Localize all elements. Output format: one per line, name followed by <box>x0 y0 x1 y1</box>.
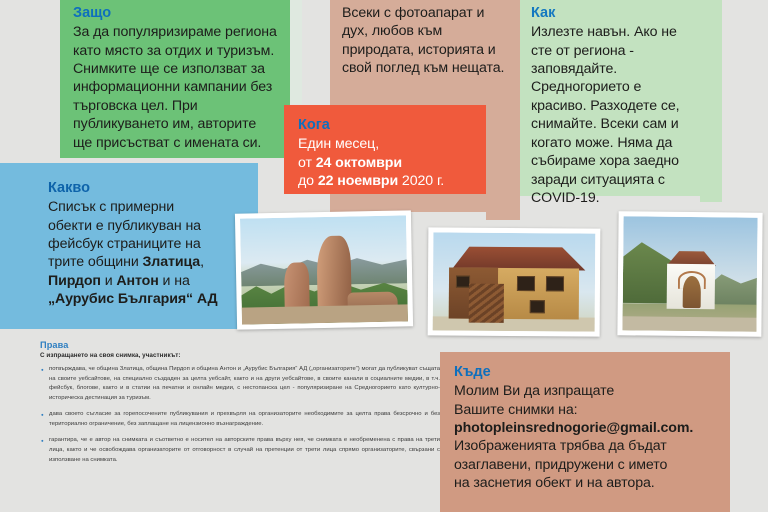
where-line2: Вашите снимки на: <box>454 401 720 419</box>
panel-where-body: Молим Ви да изпращате Вашите снимки на: … <box>454 382 720 493</box>
panel-what: Какво Списък с примерни обекти е публику… <box>0 163 258 329</box>
company-aurubis: „Аурубис България“ АД <box>48 291 218 307</box>
rights-bullet: гарантира, че е автор на снимката и съот… <box>40 436 440 465</box>
panel-what-heading: Какво <box>48 179 248 197</box>
when-line3-prefix: до <box>298 173 318 189</box>
white-chapel-image <box>622 216 757 331</box>
panel-why-body: За да популяризираме региона като място … <box>73 23 278 152</box>
municipality-anton: Антон <box>116 273 158 289</box>
panel-why: Защо За да популяризираме региона като м… <box>60 0 290 158</box>
where-line3: Изображенията трябва да бъдат <box>454 437 720 455</box>
what-line2: обекти е публикуван на <box>48 217 248 235</box>
panel-where: Къде Молим Ви да изпращате Вашите снимки… <box>440 352 730 512</box>
panel-why-heading: Защо <box>73 4 278 22</box>
panel-when-body: Един месец, от 24 октомври до 22 ноември… <box>298 135 474 190</box>
stone-ruins-image <box>240 215 408 324</box>
panel-rights-subtitle: С изпращането на своя снимка, участникът… <box>40 352 440 359</box>
decorative-block-tan <box>486 194 520 220</box>
when-end-date: 22 ноември <box>318 173 398 189</box>
what-line1: Списък с примерни <box>48 198 248 216</box>
panel-when: Кога Един месец, от 24 октомври до 22 но… <box>284 105 486 194</box>
panel-how-body: Излезте навън. Ако не сте от региона - з… <box>531 23 692 208</box>
what-line5-mid: и <box>101 273 117 289</box>
poster-canvas: Защо За да популяризираме региона като м… <box>0 0 768 512</box>
when-line2-prefix: от <box>298 155 316 171</box>
panel-rights-heading: Права <box>40 340 440 350</box>
panel-what-body: Списък с примерни обекти е публикуван на… <box>48 198 248 309</box>
where-line1: Молим Ви да изпращате <box>454 382 720 400</box>
decorative-block-green-right <box>700 0 722 202</box>
where-line4: озаглавени, придружени с името <box>454 456 720 474</box>
panel-who-body: Всеки с фотоапарат и дух, любов към прир… <box>342 4 510 78</box>
white-chapel-photo <box>617 211 762 337</box>
panel-where-heading: Къде <box>454 363 720 381</box>
rights-bullet: потвърждава, че община Златица, община П… <box>40 365 440 403</box>
panel-how-heading: Как <box>531 4 692 22</box>
when-year: 2020 г. <box>398 173 444 189</box>
municipality-zlatitsa: Златица <box>143 254 201 270</box>
contact-email[interactable]: photopleinsrednogorie@gmail.com. <box>454 419 720 437</box>
rights-bullet: дава своето съгласие за горепосочените п… <box>40 410 440 429</box>
panel-when-heading: Кога <box>298 116 474 134</box>
what-line5-post: и на <box>159 273 190 289</box>
what-line3: фейсбук страниците на <box>48 235 248 253</box>
municipality-pirdop: Пирдоп <box>48 273 101 289</box>
when-line1: Един месец, <box>298 136 379 152</box>
stone-ruins-photo <box>235 210 413 329</box>
decorative-strip-light <box>290 0 302 104</box>
what-line4-post: , <box>200 254 204 270</box>
when-start-date: 24 октомври <box>316 155 402 171</box>
what-line4-pre: трите общини <box>48 254 143 270</box>
panel-rights: Права С изпращането на своя снимка, учас… <box>40 340 440 512</box>
revival-house-photo <box>428 227 601 336</box>
where-line5: на заснетия обект и на автора. <box>454 474 720 492</box>
revival-house-image <box>433 232 596 331</box>
panel-how: Как Излезте навън. Ако не сте от региона… <box>520 0 700 196</box>
